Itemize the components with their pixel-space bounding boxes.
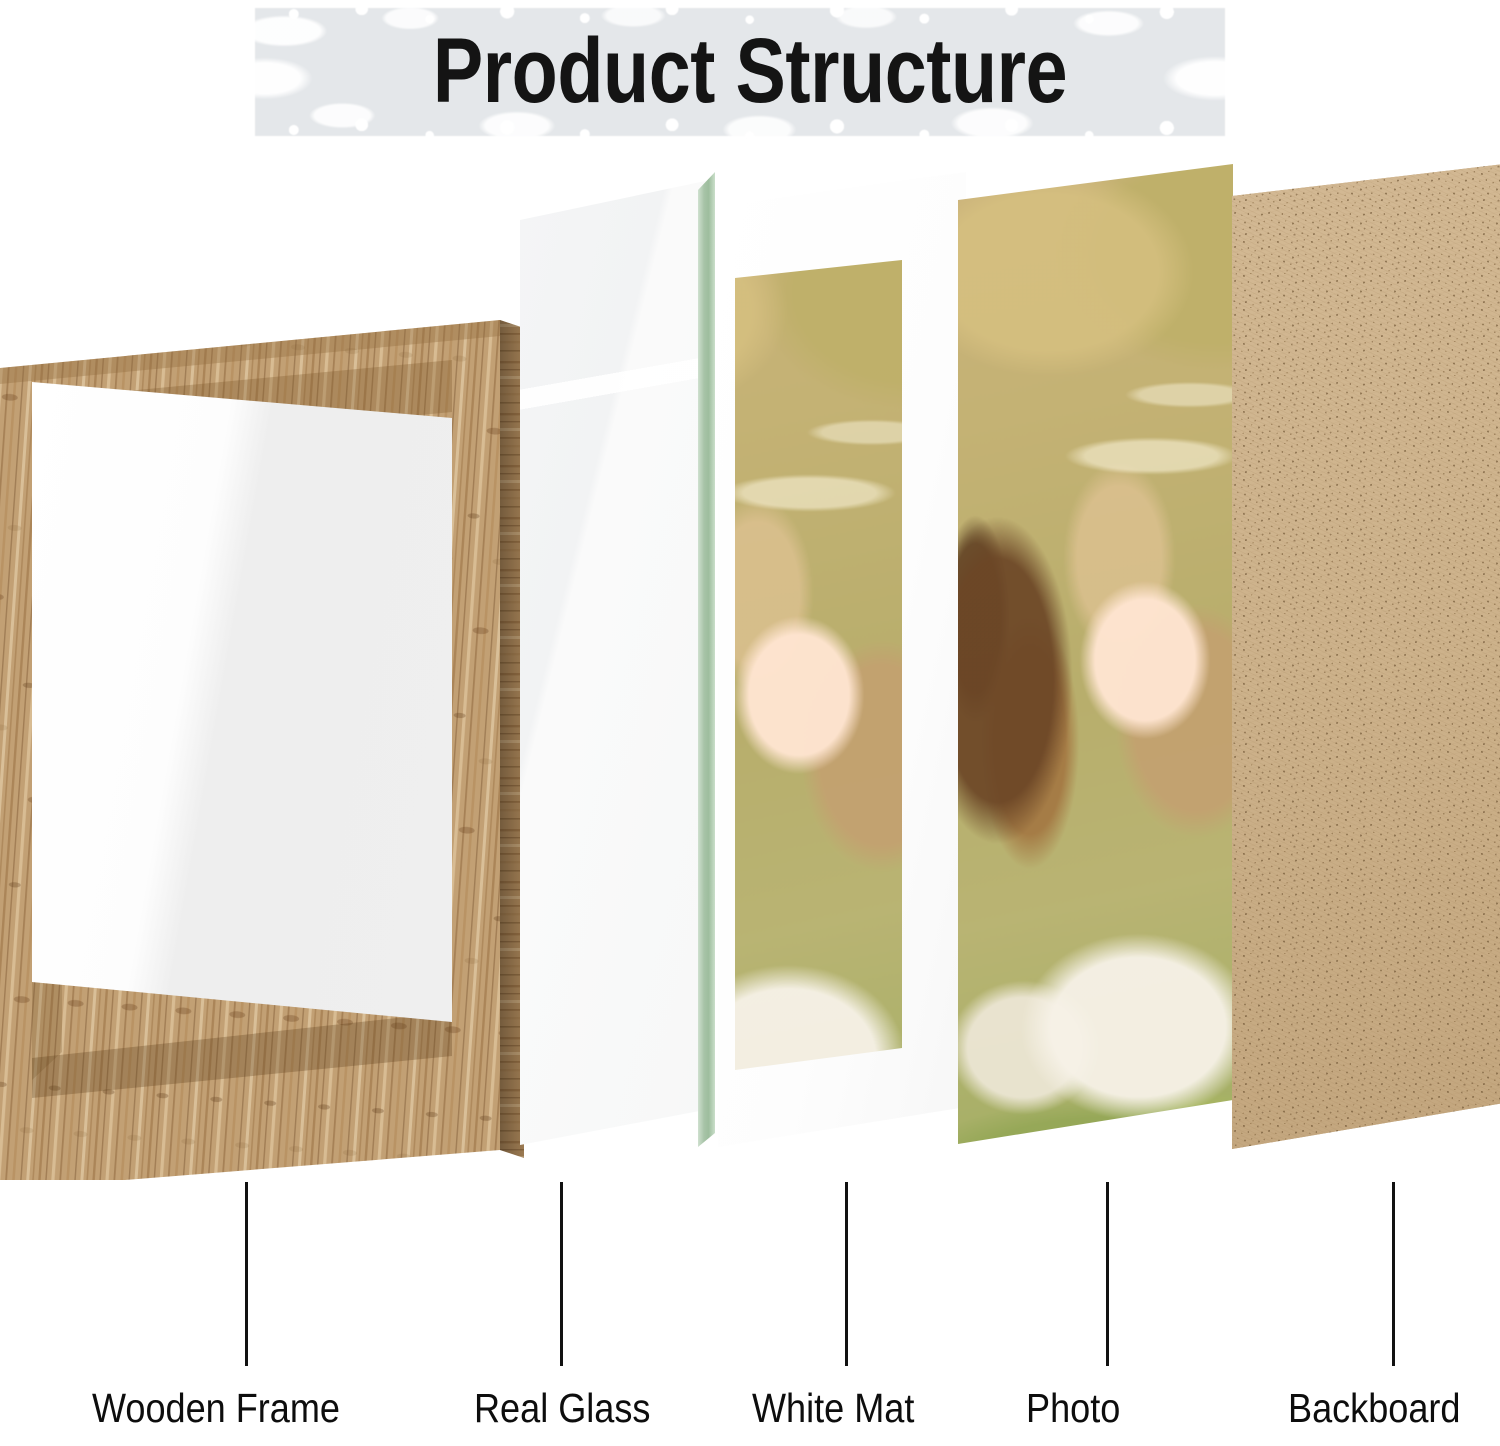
frame-opening-white [32, 382, 452, 1022]
leader-line-white-mat [845, 1182, 848, 1366]
title-block: Product Structure [0, 0, 1500, 150]
layer-real-glass [515, 150, 725, 1180]
page-title: Product Structure [135, 12, 1365, 130]
layer-white-mat [712, 150, 972, 1180]
label-backboard: Backboard [1288, 1385, 1460, 1432]
exploded-layer-diagram [0, 150, 1500, 1180]
leader-line-wooden-frame [245, 1182, 248, 1366]
layer-backboard [1228, 150, 1500, 1180]
label-photo: Photo [1026, 1385, 1120, 1432]
photo-artwork-through-mat [735, 260, 902, 1070]
photo-artwork [958, 164, 1233, 1144]
layer-photo [950, 150, 1250, 1180]
mat-aperture-window [735, 260, 902, 1070]
label-white-mat: White Mat [752, 1385, 914, 1432]
infographic-canvas: Product Structure [0, 0, 1500, 1446]
leader-line-backboard [1392, 1182, 1395, 1366]
label-real-glass: Real Glass [474, 1385, 650, 1432]
glass-reflection-sheen [520, 180, 710, 1145]
leader-line-photo [1106, 1182, 1109, 1366]
label-wooden-frame: Wooden Frame [92, 1385, 340, 1432]
layer-labels: Wooden Frame Real Glass White Mat Photo … [0, 1385, 1500, 1446]
backboard-panel [1232, 164, 1500, 1149]
layer-wooden-frame [0, 150, 540, 1180]
photo-sheet [958, 164, 1233, 1144]
leader-line-real-glass [560, 1182, 563, 1366]
